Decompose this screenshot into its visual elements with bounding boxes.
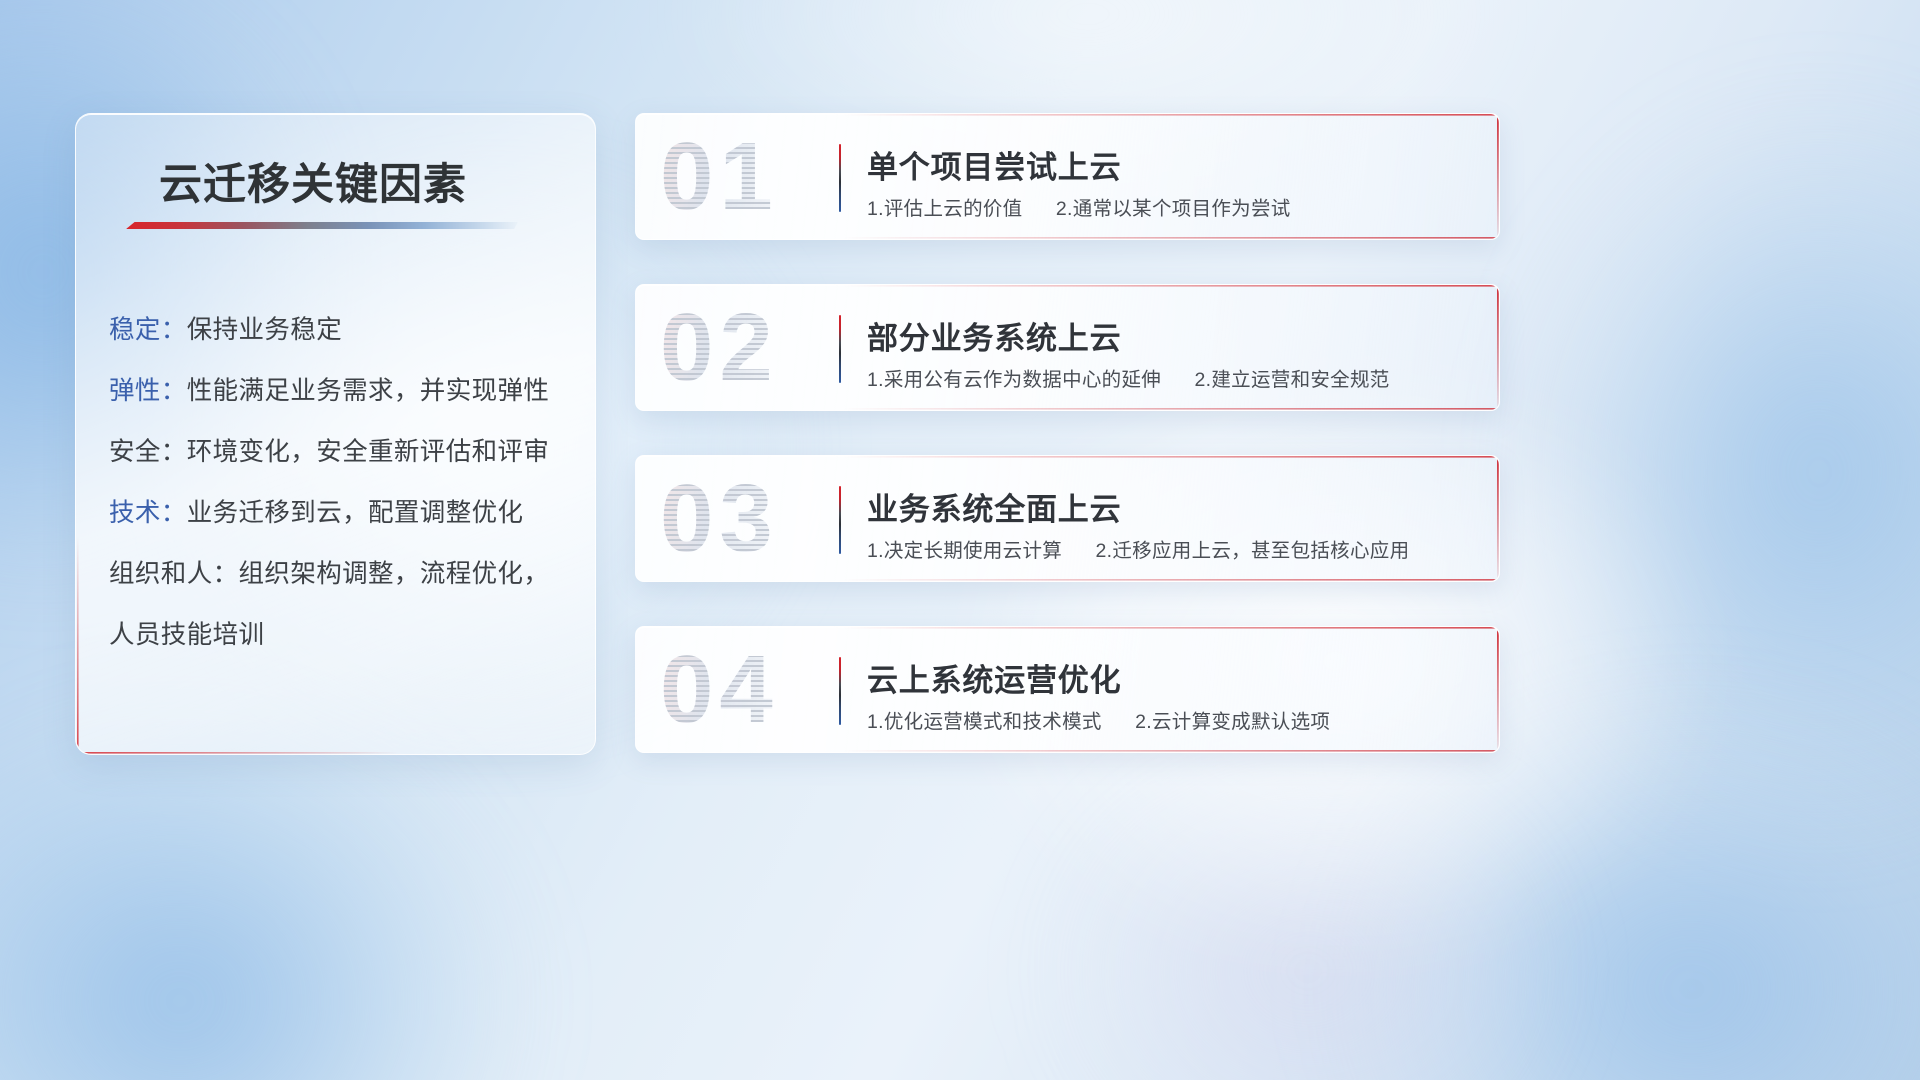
stage-point-2: 2.云计算变成默认选项: [1135, 711, 1330, 733]
card-divider-bar: [839, 315, 841, 383]
stage-title: 单个项目尝试上云: [867, 142, 1121, 187]
factor-text: 人员技能培训: [109, 621, 264, 649]
list-item-continuation: 人员技能培训: [109, 605, 573, 666]
factor-label: 安全：: [109, 438, 187, 466]
factor-text: 环境变化，安全重新评估和评审: [187, 438, 550, 466]
stage-description: 1.评估上云的价值 2.通常以某个项目作为尝试: [867, 192, 1291, 221]
stage-title: 业务系统全面上云: [867, 484, 1121, 529]
factor-text: 性能满足业务需求，并实现弹性: [187, 377, 550, 405]
card-divider-bar: [839, 486, 841, 554]
factor-text: 业务迁移到云，配置调整优化: [187, 499, 524, 527]
factor-label: 弹性：: [109, 377, 187, 405]
key-factors-list: 稳定：保持业务稳定 弹性：性能满足业务需求，并实现弹性 安全：环境变化，安全重新…: [109, 300, 573, 666]
stage-point-2: 2.建立运营和安全规范: [1195, 369, 1390, 391]
factor-text: 保持业务稳定: [187, 316, 342, 344]
list-item: 弹性：性能满足业务需求，并实现弹性: [109, 361, 573, 422]
card-divider-bar: [839, 657, 841, 725]
list-item: 安全：环境变化，安全重新评估和评审: [109, 422, 573, 483]
page-title: 云迁移关键因素: [159, 150, 467, 212]
list-item: 组织和人：组织架构调整，流程优化，: [109, 544, 573, 605]
key-factors-panel: 云迁移关键因素 稳定：保持业务稳定 弹性：性能满足业务需求，并实现弹性 安全：环…: [75, 113, 596, 755]
stage-title: 云上系统运营优化: [867, 655, 1121, 700]
stage-card-04[interactable]: 04 云上系统运营优化 1.优化运营模式和技术模式 2.云计算变成默认选项: [635, 626, 1500, 753]
stage-point-1: 1.优化运营模式和技术模式: [867, 711, 1102, 733]
stage-number: 02: [660, 293, 779, 403]
stage-point-1: 1.决定长期使用云计算: [867, 540, 1062, 562]
stage-card-03[interactable]: 03 业务系统全面上云 1.决定长期使用云计算 2.迁移应用上云，甚至包括核心应…: [635, 455, 1500, 582]
list-item: 技术：业务迁移到云，配置调整优化: [109, 483, 573, 544]
slide-content: 云迁移关键因素 稳定：保持业务稳定 弹性：性能满足业务需求，并实现弹性 安全：环…: [0, 0, 1920, 1080]
factor-label: 组织和人：: [109, 560, 239, 588]
stage-point-2: 2.迁移应用上云，甚至包括核心应用: [1096, 540, 1410, 562]
stage-point-1: 1.采用公有云作为数据中心的延伸: [867, 369, 1161, 391]
factor-label: 稳定：: [109, 316, 187, 344]
stage-description: 1.决定长期使用云计算 2.迁移应用上云，甚至包括核心应用: [867, 534, 1409, 563]
stage-card-01[interactable]: 01 单个项目尝试上云 1.评估上云的价值 2.通常以某个项目作为尝试: [635, 113, 1500, 240]
stage-card-02[interactable]: 02 部分业务系统上云 1.采用公有云作为数据中心的延伸 2.建立运营和安全规范: [635, 284, 1500, 411]
stage-number: 01: [660, 122, 779, 232]
stage-point-1: 1.评估上云的价值: [867, 198, 1022, 220]
list-item: 稳定：保持业务稳定: [109, 300, 573, 361]
stage-number: 04: [660, 635, 779, 745]
stage-point-2: 2.通常以某个项目作为尝试: [1056, 198, 1291, 220]
stage-title: 部分业务系统上云: [867, 313, 1121, 358]
stage-number: 03: [660, 464, 779, 574]
factor-text: 组织架构调整，流程优化，: [239, 560, 550, 588]
title-underline-gradient: [126, 222, 518, 229]
stage-description: 1.优化运营模式和技术模式 2.云计算变成默认选项: [867, 705, 1330, 734]
factor-label: 技术：: [109, 499, 187, 527]
stage-description: 1.采用公有云作为数据中心的延伸 2.建立运营和安全规范: [867, 363, 1390, 392]
card-divider-bar: [839, 144, 841, 212]
